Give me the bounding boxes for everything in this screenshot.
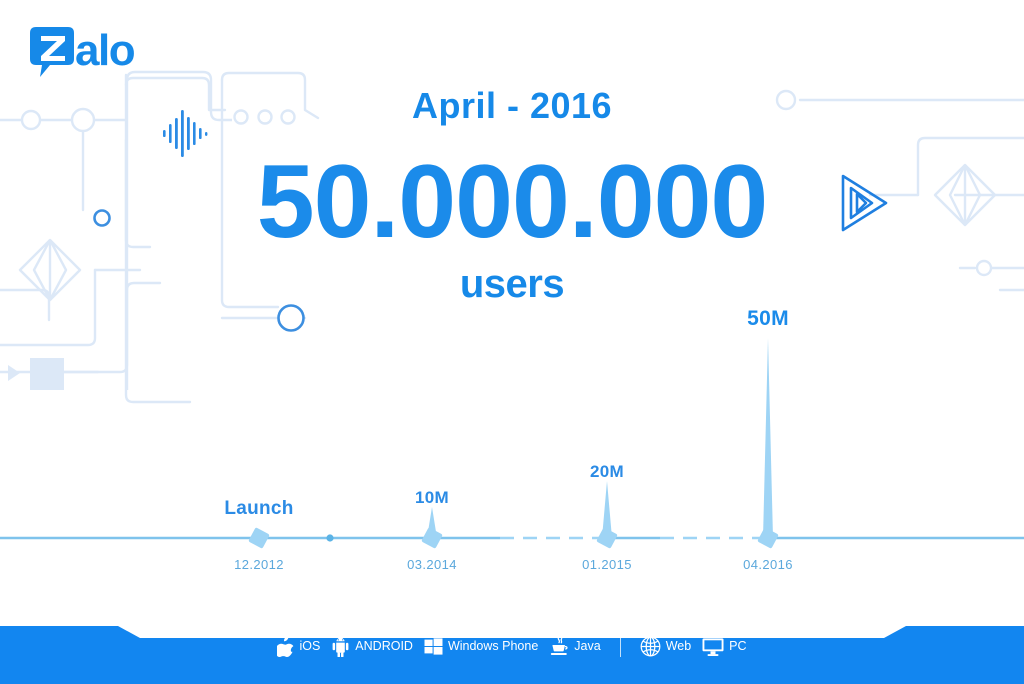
platform-label: Windows Phone	[448, 640, 538, 653]
platform-ios[interactable]: iOS	[277, 636, 320, 657]
zalo-logo-wordmark: alo	[75, 29, 134, 73]
milestone-label: Launch	[189, 499, 329, 518]
java-icon	[549, 636, 569, 657]
platform-label: ANDROID	[355, 640, 413, 653]
milestone-date: 01.2015	[537, 558, 677, 571]
platform-label: Web	[666, 640, 691, 653]
apple-icon	[277, 636, 294, 657]
zalo-logo: alo	[30, 27, 134, 77]
infographic-poster: alo April - 2016 50.000.000 users Launch…	[0, 0, 1024, 684]
windows-icon	[424, 637, 443, 656]
zalo-logo-mark	[30, 27, 74, 77]
platform-label: iOS	[299, 640, 320, 653]
headline-user-count: 50.000.000	[0, 150, 1024, 254]
milestone-label: 20M	[537, 463, 677, 480]
milestone-label: 50M	[698, 308, 838, 329]
platform-web[interactable]: Web	[640, 636, 691, 657]
platform-pc[interactable]: PC	[702, 637, 746, 657]
globe-icon	[640, 636, 661, 657]
milestone-20m: 20M 01.2015	[537, 300, 677, 580]
milestone-label: 10M	[362, 489, 502, 506]
platform-label: PC	[729, 640, 746, 653]
milestone-50m: 50M 04.2016	[698, 300, 838, 580]
headline-period: April - 2016	[0, 88, 1024, 124]
platform-label: Java	[574, 640, 600, 653]
milestone-date: 03.2014	[362, 558, 502, 571]
milestone-10m: 10M 03.2014	[362, 300, 502, 580]
milestone-diamond-marker	[248, 527, 270, 549]
timeline-axis	[0, 300, 1024, 580]
platform-android[interactable]: ANDROID	[331, 636, 413, 657]
milestone-date: 04.2016	[698, 558, 838, 571]
platform-footer: iOS AND	[0, 608, 1024, 684]
android-icon	[331, 636, 350, 657]
platform-windows-phone[interactable]: Windows Phone	[424, 637, 538, 656]
growth-timeline-chart: Launch 12.2012 10M 03.2014 20M 01.2015 5…	[0, 300, 1024, 580]
milestone-date: 12.2012	[189, 558, 329, 571]
milestone-spike	[761, 338, 775, 538]
milestone-launch: Launch 12.2012	[189, 300, 329, 580]
platform-divider	[620, 637, 621, 657]
monitor-icon	[702, 637, 724, 657]
platform-java[interactable]: Java	[549, 636, 600, 657]
headline-block: April - 2016 50.000.000 users	[0, 88, 1024, 304]
headline-unit-label: users	[0, 264, 1024, 304]
platform-list: iOS AND	[0, 636, 1024, 657]
